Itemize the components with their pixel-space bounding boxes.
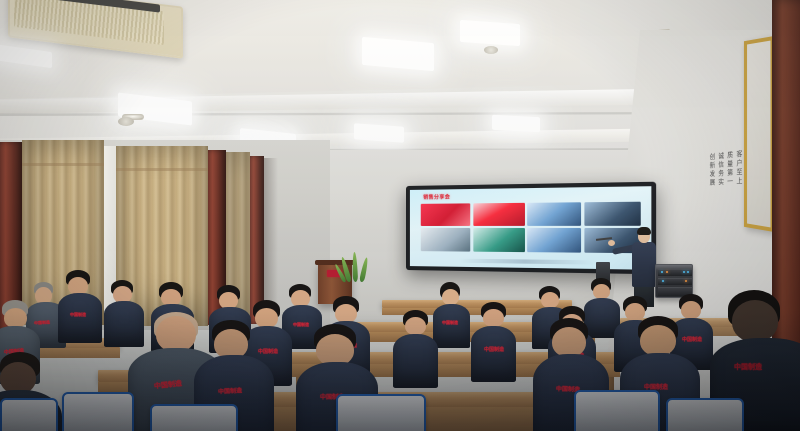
conference-room-photo: 销售分享会	[0, 0, 800, 431]
status-led-icon	[661, 271, 663, 273]
led-display[interactable]: 销售分享会	[406, 182, 656, 275]
wall-calligraphy-column: 诚信务实	[718, 152, 724, 268]
person-torso	[433, 304, 470, 348]
chair[interactable]	[574, 390, 660, 431]
person-head	[405, 317, 426, 335]
person-torso	[471, 326, 516, 382]
uniform-logo: 中国制造	[293, 322, 309, 328]
uniform-logo: 中国制造	[70, 312, 86, 318]
presentation-thumbnail	[528, 228, 582, 252]
ceiling-speaker-icon	[484, 46, 498, 54]
presentation-thumbnail	[473, 228, 525, 251]
framed-certificate	[744, 36, 774, 232]
ceiling-smoke-detector-icon	[118, 117, 134, 126]
status-led-icon	[666, 271, 668, 273]
status-led-icon	[685, 280, 687, 282]
wall-pillar	[250, 156, 264, 324]
chair[interactable]	[666, 398, 744, 431]
person-head	[156, 316, 196, 352]
person-torso	[58, 293, 102, 343]
uniform-logo: 中国制造	[484, 346, 504, 353]
front-wall-corner-shadow	[264, 158, 278, 323]
person-head	[625, 303, 645, 321]
chair[interactable]	[336, 394, 426, 431]
av-equipment-rack[interactable]	[655, 264, 693, 298]
ceiling-light-panel	[460, 20, 520, 46]
chair[interactable]	[150, 404, 238, 431]
presenter-hair	[637, 227, 651, 235]
uniform-logo: 中国制造	[734, 362, 762, 372]
presentation-thumbnail	[473, 202, 525, 225]
curtain-rail	[22, 163, 104, 166]
person-head	[4, 308, 27, 328]
wall-calligraphy: 创新发展 诚信务实 质量第一 客户至上	[686, 150, 742, 270]
person-torso	[104, 301, 144, 347]
person-head	[442, 289, 459, 305]
presenter-body	[632, 242, 656, 287]
uniform-logo: 中国制造	[442, 320, 458, 326]
wall-calligraphy-column: 质量第一	[727, 151, 733, 269]
person-head	[640, 325, 676, 356]
chair[interactable]	[0, 398, 58, 431]
wall-calligraphy-column: 创新发展	[709, 153, 714, 267]
presenter-hand	[608, 240, 615, 246]
presentation-thumbnail	[528, 202, 582, 226]
presentation-thumbnail	[421, 203, 471, 226]
person-head	[681, 301, 701, 319]
person-head	[593, 284, 610, 299]
person-head	[552, 327, 586, 357]
ceiling-light-panel	[354, 123, 404, 142]
person-head	[483, 309, 504, 327]
presentation-photo-grid	[421, 201, 641, 253]
person-head	[732, 300, 778, 342]
uniform-logo: 中国制造	[218, 385, 242, 395]
person-head	[255, 308, 278, 328]
wall-calligraphy-column: 客户至上	[736, 150, 742, 270]
status-led-icon	[687, 271, 689, 273]
presentation-caption-bar	[459, 259, 594, 265]
uniform-logo: 中国制造	[682, 336, 702, 343]
presentation-thumbnail	[421, 228, 471, 251]
chair[interactable]	[62, 392, 134, 431]
status-led-icon	[683, 271, 685, 273]
status-led-icon	[662, 280, 664, 282]
person-head	[541, 292, 559, 308]
presentation-thumbnail	[584, 201, 640, 225]
uniform-logo: 中国制造	[258, 348, 278, 355]
ceiling-light-panel	[492, 115, 540, 133]
person-torso	[393, 334, 438, 388]
curtain-rail	[116, 168, 208, 171]
uniform-logo: 中国制造	[34, 319, 50, 326]
presentation-title: 销售分享会	[423, 193, 450, 200]
led-display-surface: 销售分享会	[410, 186, 651, 270]
